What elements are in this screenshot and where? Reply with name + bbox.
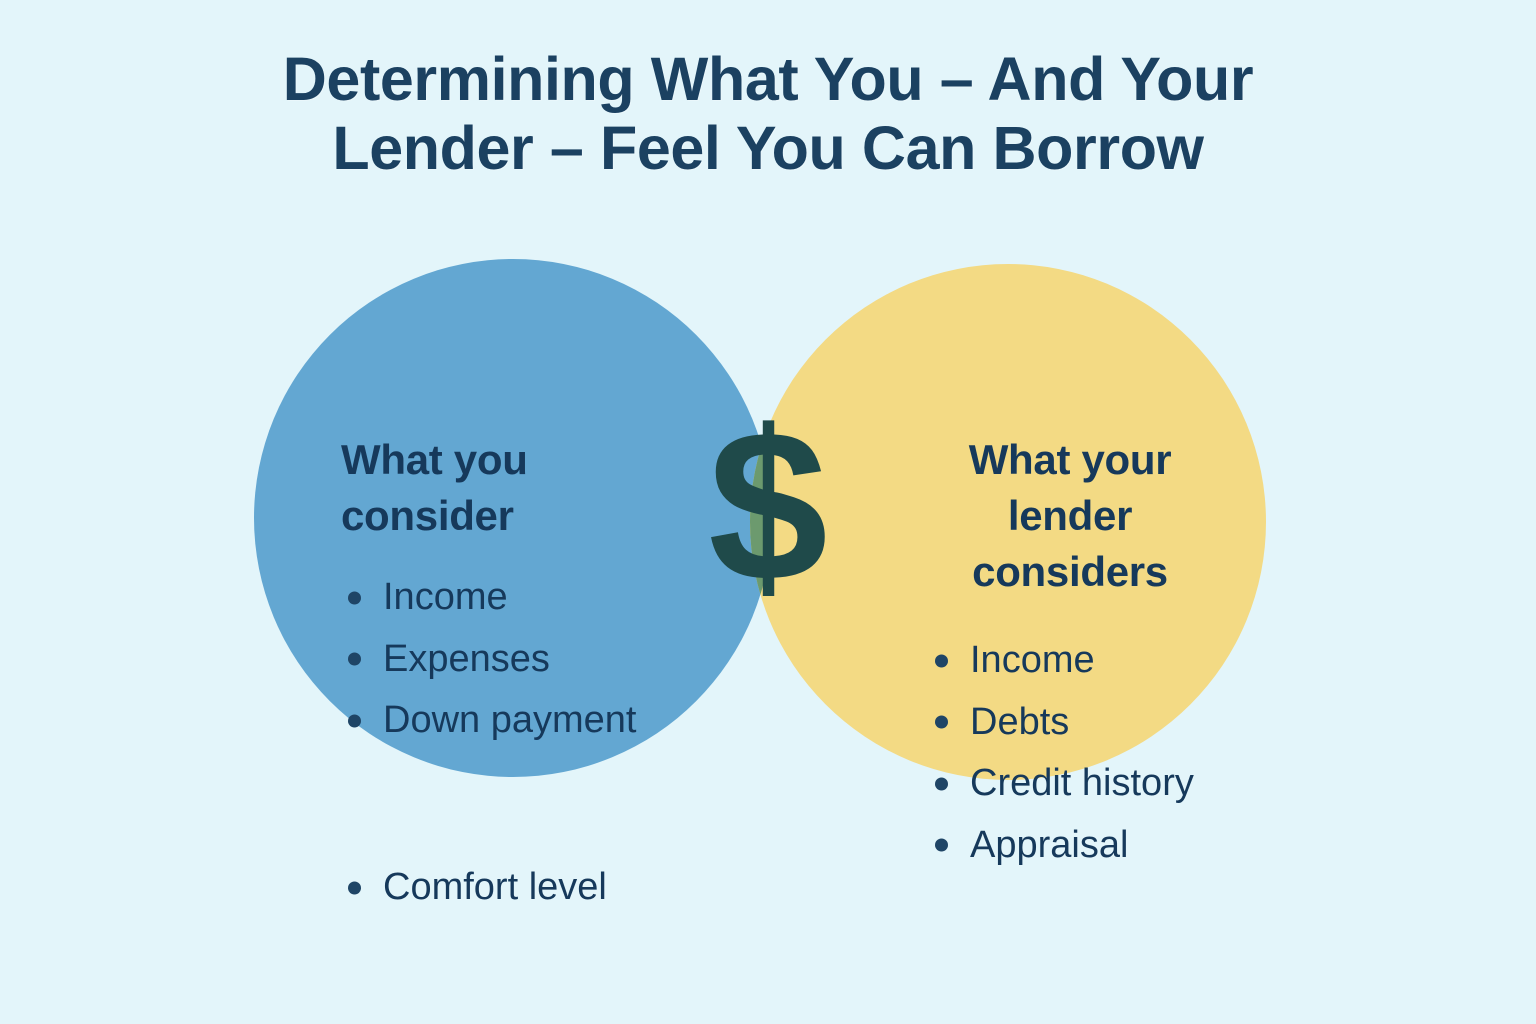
list-item: Income (928, 630, 1194, 692)
right-circle-list: Income Debts Credit history Appraisal (928, 630, 1194, 876)
list-item: Income (341, 567, 636, 629)
right-circle-heading: What your lender considers (928, 432, 1212, 600)
left-circle-heading: What you consider (341, 432, 611, 544)
list-item: Appraisal (928, 815, 1194, 877)
dollar-sign-icon: $ (700, 398, 836, 613)
page-title-line-1: Determining What You – And Your (140, 45, 1396, 114)
venn-diagram-canvas: Determining What You – And Your Lender –… (0, 0, 1536, 1024)
list-item: Down payment (341, 690, 636, 752)
page-title-line-2: Lender – Feel You Can Borrow (140, 114, 1396, 183)
list-item: Credit history (928, 753, 1194, 815)
left-outside-list: Comfort level (341, 857, 607, 919)
page-title: Determining What You – And Your Lender –… (140, 45, 1396, 183)
list-item: Expenses (341, 629, 636, 691)
list-item: Comfort level (341, 857, 607, 919)
list-item: Debts (928, 692, 1194, 754)
left-circle-list: Income Expenses Down payment (341, 567, 636, 752)
